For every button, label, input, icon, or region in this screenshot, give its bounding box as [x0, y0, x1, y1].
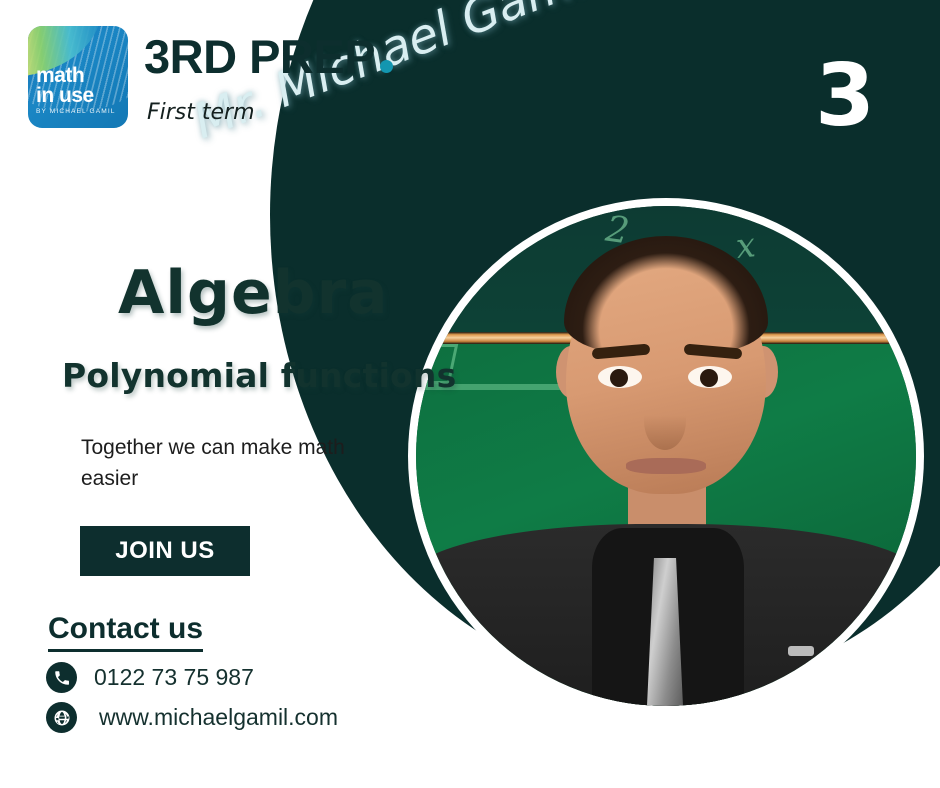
grade-title: 3RD PREP	[144, 29, 393, 84]
globe-icon	[46, 702, 77, 733]
phone-icon	[46, 662, 77, 693]
logo-line-2: in use	[36, 86, 120, 106]
logo-line-1: math	[36, 66, 120, 86]
join-us-button[interactable]: JOIN US	[80, 526, 250, 576]
grade-title-text: 3RD PREP	[144, 30, 375, 83]
contact-website-row[interactable]: www.michaelgamil.com	[46, 702, 338, 733]
instructor-photo: 3 2 x 1 a N b² c² - a² 2	[416, 206, 916, 706]
accent-dot-icon	[380, 60, 393, 73]
phone-number: 0122 73 75 987	[94, 664, 254, 691]
logo-byline: BY MICHAEL GAMIL	[36, 108, 120, 115]
pupil-right	[700, 369, 718, 387]
lapel-pin	[788, 646, 814, 656]
mouth	[626, 458, 706, 474]
subject-title: Algebra	[118, 258, 389, 328]
promo-poster: 3 3 2 x 1 a N b² c² - a² 2	[0, 0, 940, 788]
website-url: www.michaelgamil.com	[99, 704, 338, 731]
topic-subtitle: Polynomial functions	[62, 356, 456, 395]
tagline: Together we can make math easier	[81, 432, 361, 494]
hair	[564, 236, 768, 356]
logo-wordmark: math in use	[36, 66, 120, 106]
grade-number-badge: 3	[790, 36, 900, 156]
term-label: First term	[147, 100, 255, 125]
nose	[644, 392, 686, 450]
eye-left	[598, 366, 642, 388]
contact-phone-row[interactable]: 0122 73 75 987	[46, 662, 254, 693]
eye-right	[688, 366, 732, 388]
instructor-figure	[416, 206, 916, 706]
contact-heading: Contact us	[48, 612, 203, 652]
math-in-use-logo[interactable]: math in use BY MICHAEL GAMIL	[28, 26, 128, 128]
pupil-left	[610, 369, 628, 387]
